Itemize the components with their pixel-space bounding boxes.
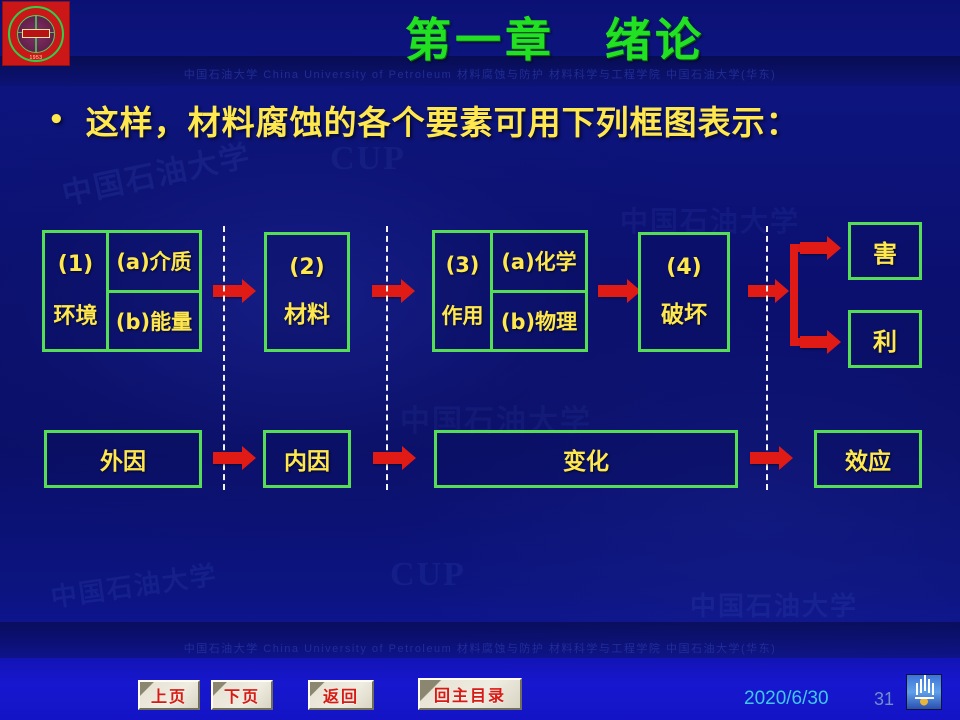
slide-canvas: 中国石油大学 China University of Petroleum 材料腐…: [0, 0, 960, 720]
date-label: 2020/6/30: [744, 688, 829, 710]
arrow-change-to-effect: [750, 452, 780, 464]
box2-index: (2): [289, 255, 324, 280]
arrow-box1-to-box2: [213, 285, 243, 297]
box2-label: 材料: [284, 295, 330, 329]
arrow-external-to-internal: [213, 452, 243, 464]
diagram-box-internal-cause[interactable]: 内因: [263, 430, 351, 488]
box3-sub-b: (b)物理: [493, 293, 585, 350]
diagram-box-external-cause[interactable]: 外因: [44, 430, 202, 488]
box4-label: 破坏: [661, 295, 707, 329]
box1-right-cell: (a)介质 (b)能量: [109, 233, 199, 349]
dash-divider-3: [766, 226, 768, 490]
watermark-lower-left: 中国石油大学: [48, 554, 220, 614]
diagram-box-damage[interactable]: (4) 破坏: [638, 232, 730, 352]
box1-left-cell: (1) 环境: [45, 233, 109, 349]
diagram-box-effect[interactable]: 效应: [814, 430, 922, 488]
watermark-lower-right: 中国石油大学: [690, 586, 858, 623]
internal-cause-label: 内因: [284, 442, 330, 476]
bullet-line: • 这样，材料腐蚀的各个要素可用下列框图表示：: [48, 96, 928, 144]
box1-label: 环境: [53, 298, 97, 330]
main-menu-button[interactable]: 回主目录: [418, 678, 522, 710]
box3-left-cell: (3) 作用: [435, 233, 493, 349]
arrow-branch-to-benefit: [800, 336, 828, 348]
watermark-cup-bottom: CUP: [390, 556, 466, 594]
candelabra-icon: [906, 674, 942, 710]
diagram-box-action[interactable]: (3) 作用 (a)化学 (b)物理: [432, 230, 588, 352]
box1-index: (1): [58, 252, 93, 277]
arrow-box3-to-box4: [598, 285, 628, 297]
dash-divider-2: [386, 226, 388, 490]
box1-sub-a: (a)介质: [109, 233, 199, 293]
page-title: 第一章 绪论: [0, 4, 960, 70]
bottom-shadow-band: [0, 622, 960, 662]
box3-index: (3): [446, 253, 480, 277]
arrow-branch-to-harm: [800, 242, 828, 254]
box3-sub-a: (a)化学: [493, 233, 585, 293]
box4-index: (4): [666, 255, 701, 280]
arrow-box4-to-branch: [748, 285, 776, 297]
watermark-cup-top: CUP: [330, 140, 406, 178]
back-button[interactable]: 返回: [308, 680, 374, 710]
bullet-text: 这样，材料腐蚀的各个要素可用下列框图表示：: [86, 96, 800, 144]
change-label: 变化: [563, 442, 609, 476]
branch-vertical-stem: [790, 244, 798, 346]
diagram-box-material[interactable]: (2) 材料: [264, 232, 350, 352]
box3-right-cell: (a)化学 (b)物理: [493, 233, 585, 349]
box3-label: 作用: [442, 300, 484, 330]
harm-label: 害: [873, 234, 897, 269]
benefit-label: 利: [873, 322, 897, 357]
diagram-box-environment[interactable]: (1) 环境 (a)介质 (b)能量: [42, 230, 202, 352]
diagram-box-change[interactable]: 变化: [434, 430, 738, 488]
effect-label: 效应: [845, 442, 891, 476]
prev-page-button[interactable]: 上页: [138, 680, 200, 710]
page-number: 31: [874, 689, 894, 710]
box1-sub-b: (b)能量: [109, 293, 199, 350]
external-cause-label: 外因: [100, 442, 146, 476]
arrow-internal-to-change: [373, 452, 403, 464]
diagram-box-benefit[interactable]: 利: [848, 310, 922, 368]
diagram-box-harm[interactable]: 害: [848, 222, 922, 280]
dash-divider-1: [223, 226, 225, 490]
next-page-button[interactable]: 下页: [211, 680, 273, 710]
bullet-marker-icon: •: [48, 107, 66, 133]
watermark-bottom: 中国石油大学 China University of Petroleum 材料腐…: [0, 640, 960, 656]
